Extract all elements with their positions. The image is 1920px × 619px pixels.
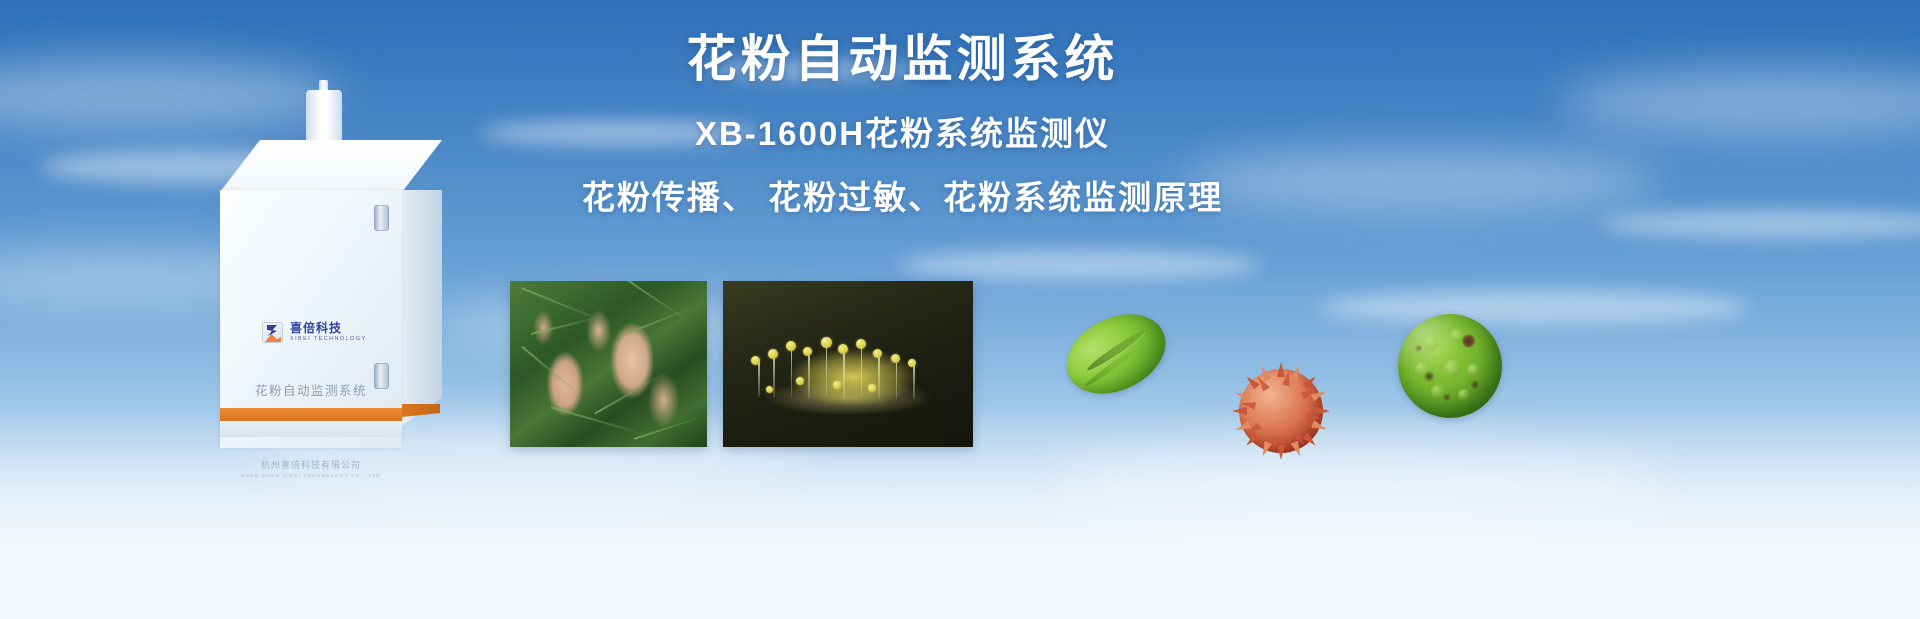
brand-logo-texts: 喜倍科技 XIBEI TECHNOLOGY [290, 322, 366, 343]
cabinet-top-panel [220, 140, 442, 192]
cabinet-orange-stripe [220, 408, 402, 421]
pollen-monitoring-banner: 花粉自动监测系统 XB-1600H花粉系统监测仪 花粉传播、 花粉过敏、花粉系统… [0, 0, 1920, 619]
cloud-decoration [1180, 150, 1660, 210]
cloud-decoration [1560, 70, 1920, 136]
yellow-catkin-photo [723, 281, 973, 447]
brand-logo: 喜倍科技 XIBEI TECHNOLOGY [262, 322, 366, 343]
cloud-decoration [900, 250, 1260, 280]
headline-block: 花粉自动监测系统 XB-1600H花粉系统监测仪 花粉传播、 花粉过敏、花粉系统… [555, 28, 1250, 220]
xibei-logo-icon [262, 322, 283, 343]
bottom-haze-strong [0, 524, 1920, 619]
cabinet-latch-upper [374, 205, 389, 231]
conifer-pollen-cones-photo [510, 281, 707, 447]
cabinet-company-en: HANG ZHOU XIBEI TECHNOLOGY CO., LTD [220, 473, 402, 478]
cabinet-foot [220, 421, 402, 437]
cabinet-company-cn: 杭州喜倍科技有限公司 [220, 458, 402, 471]
page-title: 花粉自动监测系统 [555, 28, 1250, 91]
cabinet-orange-stripe-side [402, 404, 440, 417]
cloud-decoration [1320, 290, 1750, 324]
spiky-red-pollen-illustration [1228, 358, 1334, 464]
cabinet-latch-lower [374, 363, 389, 389]
cloud-decoration [1050, 440, 1670, 520]
cabinet-side-panel [402, 190, 442, 426]
green-textured-pollen-illustration [1398, 314, 1502, 418]
cloud-decoration [1600, 210, 1920, 238]
green-ellipsoid-pollen-illustration [1053, 299, 1178, 409]
topics-subtitle: 花粉传播、 花粉过敏、花粉系统监测原理 [555, 177, 1250, 220]
brand-name-cn: 喜倍科技 [290, 322, 366, 334]
model-subtitle: XB-1600H花粉系统监测仪 [555, 113, 1250, 156]
monitoring-cabinet: 喜倍科技 XIBEI TECHNOLOGY 花粉自动监测系统 XB-1600H … [196, 78, 466, 428]
brand-name-en: XIBEI TECHNOLOGY [290, 337, 366, 343]
